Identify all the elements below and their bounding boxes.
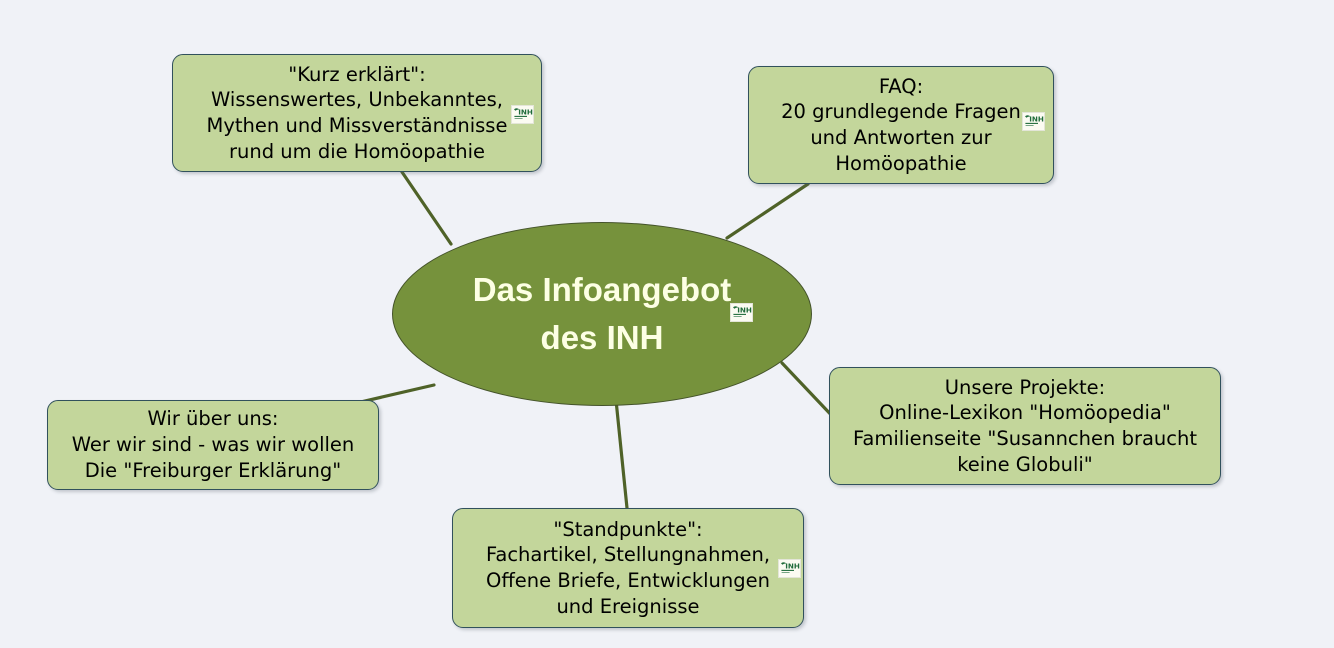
inh-logo-icon: INH bbox=[1022, 112, 1045, 131]
node-label-unsere-projekte: Unsere Projekte: Online-Lexikon "Homöope… bbox=[847, 375, 1203, 478]
node-faq[interactable]: FAQ: 20 grundlegende Fragen und Antworte… bbox=[748, 66, 1054, 184]
edge-center-unsere-projekte bbox=[782, 363, 836, 420]
edge-center-standpunkte bbox=[616, 400, 627, 508]
node-standpunkte[interactable]: "Standpunkte": Fachartikel, Stellungnahm… bbox=[452, 508, 804, 628]
node-unsere-projekte[interactable]: Unsere Projekte: Online-Lexikon "Homöope… bbox=[829, 367, 1221, 485]
inh-logo-icon: INH bbox=[778, 559, 801, 578]
node-kurz-erklaert[interactable]: "Kurz erklärt": Wissenswertes, Unbekannt… bbox=[172, 54, 542, 172]
inh-logo-icon: INH bbox=[730, 303, 753, 322]
node-label-wir-ueber-uns: Wir über uns: Wer wir sind - was wir wol… bbox=[66, 406, 361, 483]
mindmap-canvas: "Kurz erklärt": Wissenswertes, Unbekannt… bbox=[0, 0, 1334, 648]
node-wir-ueber-uns[interactable]: Wir über uns: Wer wir sind - was wir wol… bbox=[47, 400, 379, 490]
node-label-faq: FAQ: 20 grundlegende Fragen und Antworte… bbox=[775, 74, 1027, 177]
node-label-kurz-erklaert: "Kurz erklärt": Wissenswertes, Unbekannt… bbox=[201, 62, 514, 165]
node-label-standpunkte: "Standpunkte": Fachartikel, Stellungnahm… bbox=[480, 517, 776, 620]
svg-text:INH: INH bbox=[737, 306, 752, 315]
inh-logo-icon: INH bbox=[511, 105, 534, 124]
svg-text:INH: INH bbox=[518, 108, 533, 117]
edge-center-faq bbox=[727, 184, 808, 238]
svg-text:INH: INH bbox=[1029, 115, 1044, 124]
center-node-label: Das Infoangebot des INH bbox=[473, 266, 732, 362]
svg-text:INH: INH bbox=[785, 562, 800, 571]
edge-center-kurz-erklaert bbox=[402, 172, 451, 244]
